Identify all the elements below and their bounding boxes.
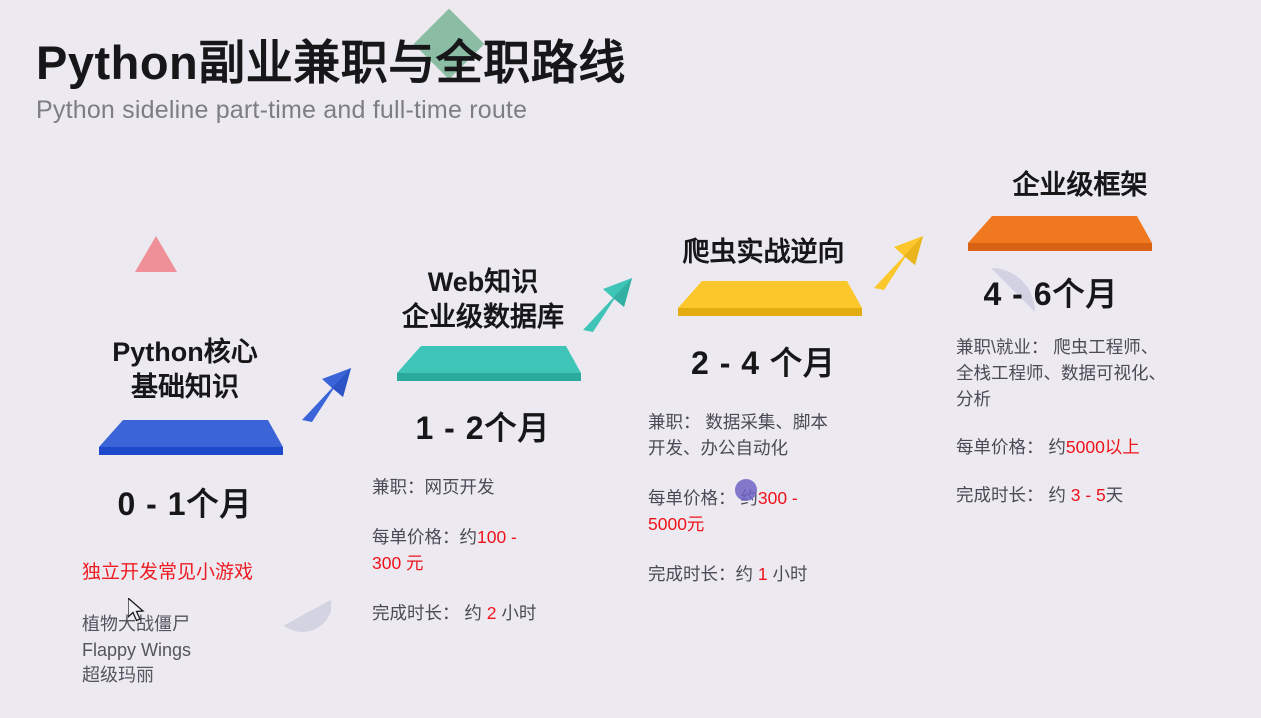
stage-3-parttime-line-2: 开发、办公自动化	[648, 438, 788, 458]
mouse-cursor-icon	[128, 598, 148, 626]
stage-3-row-duration: 完成时长：约 1 小时	[648, 562, 891, 588]
stage-2-row-price: 每单价格：约100 - 300 元	[372, 525, 608, 577]
stage-3-parttime-line-1: 兼职： 数据采集、脚本	[648, 412, 828, 432]
stage-2-title-line-2: 企业级数据库	[358, 300, 608, 335]
list-item: 植物大战僵尸	[82, 612, 310, 638]
stage-4-title-line-1: 企业级框架	[946, 168, 1214, 203]
stage-2-duration-value: 2	[487, 603, 497, 623]
stage-3-row-parttime: 兼职： 数据采集、脚本 开发、办公自动化	[648, 410, 891, 462]
stage-3-row-price: 每单价格： 约300 - 5000元	[648, 486, 891, 538]
stage-4-job-line-1: 兼职\就业： 爬虫工程师、	[956, 337, 1158, 357]
stage-1-platform	[85, 417, 285, 459]
stage-2-price-label: 每单价格：约	[372, 527, 477, 547]
stage-2-row-duration: 完成时长： 约 2 小时	[372, 601, 608, 627]
stage-3-column: 爬虫实战逆向 2 - 4 个月 兼职： 数据采集、脚本 开发、办公自动化 每单价…	[636, 235, 891, 588]
stage-2-title: Web知识 企业级数据库	[358, 265, 608, 335]
list-item: Flappy Wings	[82, 638, 310, 664]
stage-4-duration-unit: 天	[1106, 485, 1124, 505]
stage-2-row-parttime: 兼职：网页开发	[372, 475, 608, 501]
stage-3-price-value-b: 5000元	[648, 514, 704, 534]
stage-1-title: Python核心 基础知识	[60, 335, 310, 405]
stage-3-details: 兼职： 数据采集、脚本 开发、办公自动化 每单价格： 约300 - 5000元 …	[636, 410, 891, 587]
page-title: Python副业兼职与全职路线	[36, 38, 626, 88]
stage-2-duration-label: 完成时长： 约	[372, 603, 487, 623]
stage-3-duration-unit: 小时	[768, 564, 808, 584]
stage-1-game-list: 植物大战僵尸 Flappy Wings 超级玛丽	[60, 612, 310, 689]
title-block: Python副业兼职与全职路线 Python sideline part-tim…	[36, 38, 626, 125]
stage-2-price-value-b: 300 元	[372, 553, 424, 573]
stage-4-duration-value: 3 - 5	[1071, 485, 1106, 505]
stage-4-price-label: 每单价格： 约	[956, 437, 1066, 457]
stage-4-row-price: 每单价格： 约5000以上	[956, 435, 1214, 461]
stage-4-details: 兼职\就业： 爬虫工程师、 全栈工程师、数据可视化、 分析 每单价格： 约500…	[946, 335, 1214, 508]
page-subtitle: Python sideline part-time and full-time …	[36, 96, 626, 125]
stage-3-title-line-1: 爬虫实战逆向	[636, 235, 891, 270]
stage-2-duration-unit: 小时	[496, 603, 536, 623]
stage-3-duration-label: 完成时长：约	[648, 564, 758, 584]
stage-2-column: Web知识 企业级数据库 1 - 2个月 兼职：网页开发 每单价格：约100 -…	[358, 265, 608, 627]
stage-1-highlight: 独立开发常见小游戏	[60, 557, 310, 584]
decorative-purple-dot	[735, 479, 757, 501]
stage-1-title-line-1: Python核心	[60, 335, 310, 370]
stage-2-details: 兼职：网页开发 每单价格：约100 - 300 元 完成时长： 约 2 小时	[358, 475, 608, 627]
slide-canvas: Python副业兼职与全职路线 Python sideline part-tim…	[0, 0, 1261, 718]
stage-1-title-line-2: 基础知识	[60, 370, 310, 405]
stage-2-platform	[383, 343, 583, 385]
stage-3-duration-value: 1	[758, 564, 768, 584]
stage-4-column: 企业级框架 4 - 6个月 兼职\就业： 爬虫工程师、 全栈工程师、数据可视化、…	[946, 168, 1214, 509]
stage-4-job-line-2: 全栈工程师、数据可视化、	[956, 363, 1166, 383]
decorative-triangle	[135, 236, 177, 272]
stage-3-price-value-a: 300 -	[758, 488, 798, 508]
stage-3-title: 爬虫实战逆向	[636, 235, 891, 270]
stage-4-row-duration: 完成时长： 约 3 - 5天	[956, 483, 1214, 509]
stage-2-duration: 1 - 2个月	[358, 403, 608, 449]
stage-3-duration: 2 - 4 个月	[636, 338, 891, 384]
stage-1-duration: 0 - 1个月	[60, 479, 310, 525]
stage-4-title: 企业级框架	[946, 168, 1214, 203]
stage-4-platform	[954, 213, 1154, 255]
stage-4-job-line-3: 分析	[956, 389, 991, 409]
list-item: 超级玛丽	[82, 663, 310, 689]
stage-1-column: Python核心 基础知识 0 - 1个月 独立开发常见小游戏 植物大战僵尸 F…	[60, 335, 310, 689]
stage-4-price-value: 5000以上	[1066, 437, 1140, 457]
stage-2-price-value-a: 100 -	[477, 527, 517, 547]
stage-4-duration-label: 完成时长： 约	[956, 485, 1071, 505]
stage-2-title-line-1: Web知识	[358, 265, 608, 300]
stage-3-platform	[664, 278, 864, 320]
stage-4-duration: 4 - 6个月	[888, 269, 1214, 315]
stage-4-row-job: 兼职\就业： 爬虫工程师、 全栈工程师、数据可视化、 分析	[956, 335, 1214, 413]
